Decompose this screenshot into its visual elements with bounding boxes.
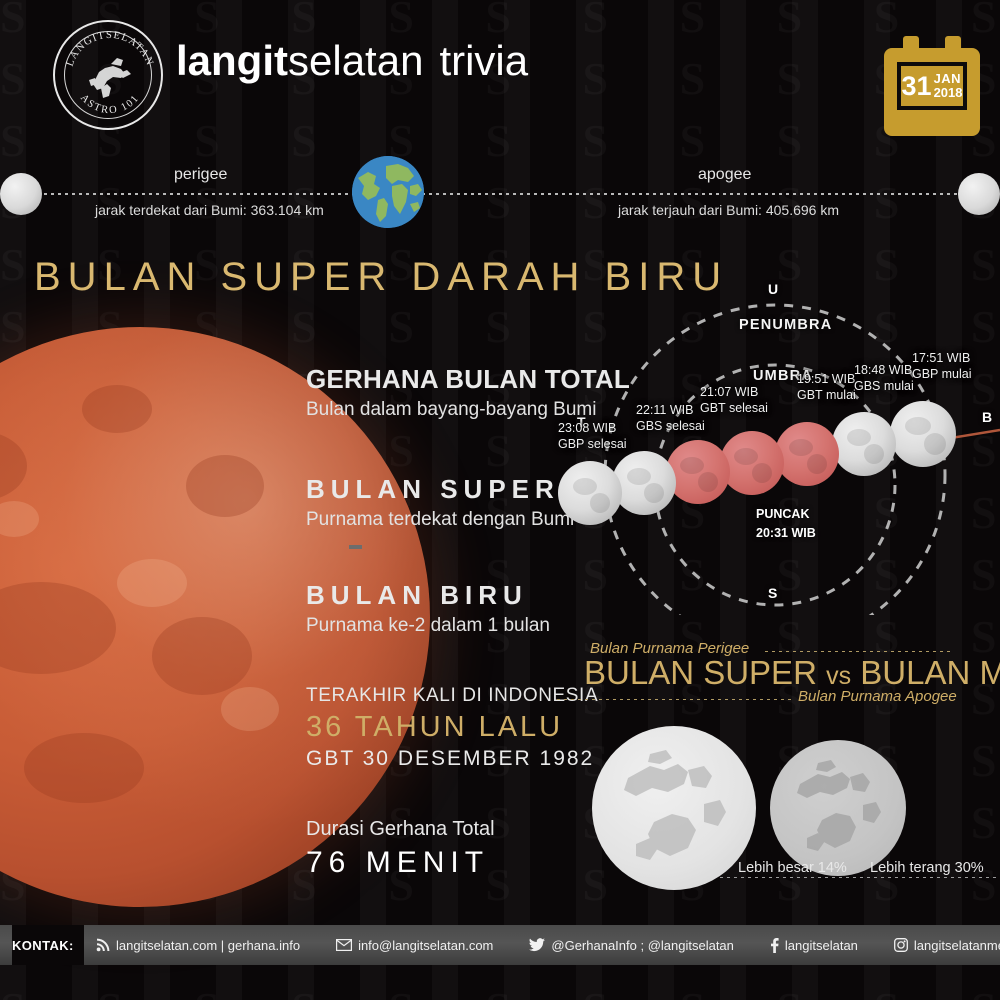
phase-event: GBT mulai (797, 388, 856, 404)
moon-phase-1951 (775, 422, 839, 486)
perigee-distance: jarak terdekat dari Bumi: 363.104 km (95, 202, 324, 218)
apogee-label: apogee (698, 166, 751, 184)
brand-title: langitselatantrivia (176, 40, 528, 82)
brand-bold: langit (176, 37, 288, 84)
phase-event: GBP mulai (912, 367, 972, 383)
moon-phase-2107 (666, 440, 730, 504)
svg-text:LANGITSELATAN: LANGITSELATAN (65, 30, 156, 68)
duration-label: Durasi Gerhana Total (306, 818, 495, 841)
moon-phase-1751 (890, 401, 956, 467)
phase-label-2308: 23:08 WIB GBP selesai (558, 421, 627, 452)
brand-trivia: trivia (439, 37, 528, 84)
phase-event: GBS selesai (636, 419, 705, 435)
peak-label: PUNCAK (756, 505, 816, 524)
peak-time: 20:31 WIB (756, 524, 816, 543)
phase-time: 22:11 WIB (636, 403, 705, 419)
moon-phase-peak (720, 431, 784, 495)
phase-event: GBS mulai (854, 379, 914, 395)
logo-horseman-glyph (89, 58, 131, 98)
logo-arc-bottom-text: ASTRO 101 (78, 92, 142, 116)
calendar-day: 31 (902, 73, 932, 100)
footer-link-email[interactable]: info@langitselatan.com (336, 938, 493, 953)
phase-label-1751: 17:51 WIB GBP mulai (912, 351, 972, 382)
langitselatan-logo-icon: LANGITSELATAN ASTRO 101 (53, 20, 163, 130)
brand-light: selatan (288, 37, 423, 84)
last-occurrence-years: 36 TAHUN LALU (306, 711, 598, 744)
orbit-distance-band: perigee jarak terdekat dari Bumi: 363.10… (0, 150, 1000, 250)
caption-dotted-line-bottom (557, 699, 793, 700)
eclipse-path-diagram: U S T B PENUMBRA UMBRA 23:08 WIB GBP sel… (560, 275, 1000, 615)
svg-text:ASTRO 101: ASTRO 101 (78, 92, 142, 116)
apogee-moon-icon (958, 173, 1000, 215)
calendar-screen: 31 JAN 2018 (897, 62, 967, 110)
moon-phase-2211 (612, 451, 676, 515)
footer-link-facebook[interactable]: langitselatan (770, 938, 858, 953)
footer-link-twitter[interactable]: @GerhanaInfo ; @langitselatan (529, 938, 734, 953)
phase-time: 23:08 WIB (558, 421, 627, 437)
phase-label-2211: 22:11 WIB GBS selesai (636, 403, 705, 434)
logo-arc-top-text: LANGITSELATAN (65, 30, 156, 68)
instagram-icon (894, 938, 908, 952)
phase-time: 17:51 WIB (912, 351, 972, 367)
comparison-title: BULAN SUPER vs BULAN MINI (584, 654, 1000, 692)
minimoon-comparison-icon (770, 740, 906, 876)
calendar-body: 31 JAN 2018 (884, 48, 980, 136)
infographic-canvas: S S S S S S S S S S S S S S S S S S S S … (0, 0, 1000, 1000)
feature-heading: BULAN SUPER (306, 474, 574, 505)
phase-event: GBT selesai (700, 401, 768, 417)
axis-north-label: U (768, 281, 778, 297)
feature-block-bulan-biru: BULAN BIRU Purnama ke-2 dalam 1 bulan (306, 580, 550, 637)
penumbra-label: PENUMBRA (739, 317, 832, 333)
axis-south-label: S (768, 585, 777, 601)
feature-subtext: Purnama terdekat dengan Bumi (306, 509, 574, 531)
divider-dash (349, 545, 362, 549)
duration-block: Durasi Gerhana Total 76 MENIT (306, 818, 495, 880)
footer-link-text: langitselatan.com | gerhana.info (116, 938, 300, 953)
calendar-badge-icon: 31 JAN 2018 (884, 36, 980, 136)
mini-moon-caption: Bulan Purnama Apogee (798, 688, 957, 705)
phase-label-1848: 18:48 WIB GBS mulai (854, 363, 914, 394)
footer-link-text: langitselatan (785, 938, 858, 953)
moon-phase-1848 (832, 412, 896, 476)
perigee-moon-icon (0, 173, 42, 215)
footer-link-text: @GerhanaInfo ; @langitselatan (551, 938, 734, 953)
calendar-month: JAN (934, 72, 963, 86)
footer-link-text: langitselatanmedia (914, 938, 1000, 953)
facebook-icon (770, 938, 779, 953)
comparison-title-part2: BULAN MINI (860, 654, 1000, 691)
comparison-title-vs: vs (826, 662, 851, 690)
phase-label-2107: 21:07 WIB GBT selesai (700, 385, 768, 416)
footer-link-website[interactable]: langitselatan.com | gerhana.info (96, 938, 300, 953)
orbit-dotted-line (16, 193, 984, 195)
rss-icon (96, 938, 110, 952)
stats-dotted-line (720, 877, 1000, 878)
last-occurrence-date: GBT 30 DESEMBER 1982 (306, 747, 598, 771)
phase-label-1951: 19:51 WIB GBT mulai (797, 372, 856, 403)
phase-time: 21:07 WIB (700, 385, 768, 401)
comparison-title-part1: BULAN SUPER (584, 654, 817, 691)
footer-contact-bar: langitselatan.com | gerhana.info info@la… (0, 925, 1000, 965)
last-occurrence-block: TERAKHIR KALI DI INDONESIA 36 TAHUN LALU… (306, 685, 598, 771)
twitter-icon (529, 938, 545, 952)
peak-callout: PUNCAK 20:31 WIB (756, 505, 816, 543)
last-occurrence-line1: TERAKHIR KALI DI INDONESIA (306, 685, 598, 707)
footer-link-instagram[interactable]: langitselatanmedia (894, 938, 1000, 953)
footer-links: langitselatan.com | gerhana.info info@la… (86, 925, 1000, 965)
calendar-year: 2018 (934, 86, 963, 100)
axis-west-label: B (982, 409, 992, 425)
stat-brightness-label: Lebih terang 30% (870, 860, 984, 876)
feature-heading: BULAN BIRU (306, 580, 550, 611)
phase-time: 18:48 WIB (854, 363, 914, 379)
phase-event: GBP selesai (558, 437, 627, 453)
feature-subtext: Purnama ke-2 dalam 1 bulan (306, 615, 550, 637)
super-vs-mini-section: Bulan Purnama Perigee BULAN SUPER vs BUL… (560, 636, 1000, 906)
email-icon (336, 939, 352, 951)
feature-block-bulan-super: BULAN SUPER Purnama terdekat dengan Bumi (306, 474, 574, 531)
stat-size-label: Lebih besar 14% (738, 860, 847, 876)
caption-dotted-line-top (765, 651, 953, 652)
earth-icon (352, 156, 424, 228)
supermoon-comparison-icon (592, 726, 756, 890)
apogee-distance: jarak terjauh dari Bumi: 405.696 km (618, 202, 839, 218)
phase-time: 19:51 WIB (797, 372, 856, 388)
footer-link-text: info@langitselatan.com (358, 938, 493, 953)
header: LANGITSELATAN ASTRO 101 langitselatantri… (0, 0, 1000, 150)
duration-value: 76 MENIT (306, 846, 495, 880)
footer-kontak-label: KONTAK: (12, 925, 84, 965)
perigee-label: perigee (174, 166, 227, 184)
moon-phase-2308 (558, 461, 622, 525)
